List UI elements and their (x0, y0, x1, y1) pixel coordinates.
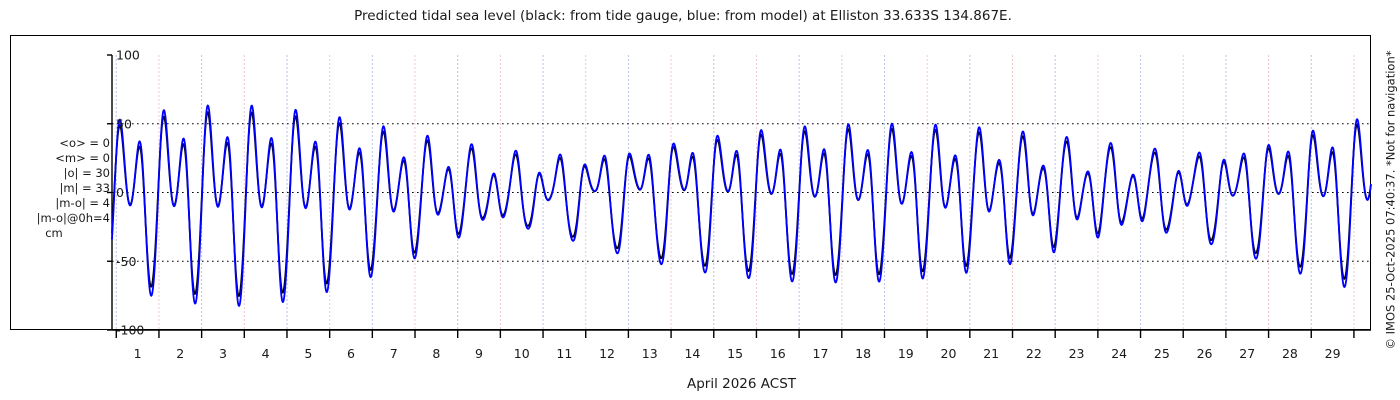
stat-units: cm (12, 226, 110, 241)
svg-text:29: 29 (1325, 346, 1341, 361)
stat-mean-model: <m> = 0 (12, 151, 110, 166)
svg-text:17: 17 (813, 346, 829, 361)
chart-title: Predicted tidal sea level (black: from t… (0, 8, 1366, 24)
svg-text:8: 8 (432, 346, 440, 361)
x-axis-title: April 2026 ACST (112, 376, 1371, 392)
svg-text:16: 16 (770, 346, 786, 361)
svg-text:1: 1 (134, 346, 142, 361)
stat-abs-model: |m| = 33 (12, 181, 110, 196)
svg-text:12: 12 (599, 346, 615, 361)
svg-text:13: 13 (642, 346, 658, 361)
svg-text:7: 7 (390, 346, 398, 361)
credit-text: © IMOS 25-Oct-2025 07:40:37. *Not for na… (1383, 51, 1397, 350)
svg-text:18: 18 (855, 346, 871, 361)
x-axis (112, 330, 1371, 338)
stat-mean-obs: <o> = 0 (12, 136, 110, 151)
svg-text:21: 21 (983, 346, 999, 361)
svg-text:10: 10 (514, 346, 530, 361)
svg-text:20: 20 (941, 346, 957, 361)
copyright-credit: © IMOS 25-Oct-2025 07:40:37. *Not for na… (1379, 0, 1400, 400)
svg-text:3: 3 (219, 346, 227, 361)
svg-text:23: 23 (1069, 346, 1085, 361)
x-tick-labels: 1234567891011121314151617181920212223242… (134, 346, 1341, 361)
svg-text:4: 4 (262, 346, 270, 361)
statistics-block: <o> = 0 <m> = 0 |o| = 30 |m| = 33 |m-o| … (12, 136, 110, 241)
tidal-chart-page: Predicted tidal sea level (black: from t… (0, 0, 1400, 400)
svg-text:26: 26 (1197, 346, 1213, 361)
svg-text:24: 24 (1111, 346, 1127, 361)
stat-abs-diff-0h: |m-o|@0h=4 (12, 211, 110, 226)
svg-text:19: 19 (898, 346, 914, 361)
svg-text:28: 28 (1282, 346, 1298, 361)
svg-text:14: 14 (684, 346, 700, 361)
chart-frame (10, 35, 1371, 330)
svg-text:5: 5 (304, 346, 312, 361)
stat-abs-obs: |o| = 30 (12, 166, 110, 181)
svg-text:22: 22 (1026, 346, 1042, 361)
svg-text:9: 9 (475, 346, 483, 361)
svg-text:6: 6 (347, 346, 355, 361)
svg-text:25: 25 (1154, 346, 1170, 361)
svg-text:27: 27 (1239, 346, 1255, 361)
svg-text:11: 11 (556, 346, 572, 361)
stat-abs-diff: |m-o| = 4 (12, 196, 110, 211)
svg-text:15: 15 (727, 346, 743, 361)
svg-text:2: 2 (176, 346, 184, 361)
